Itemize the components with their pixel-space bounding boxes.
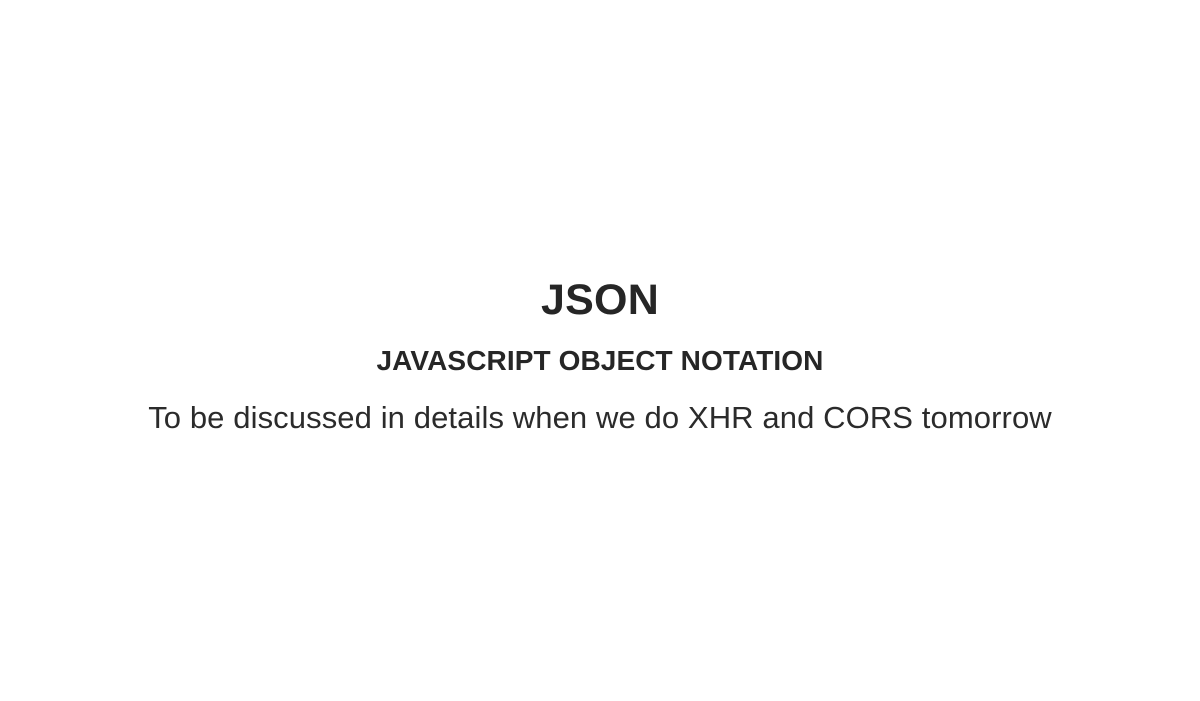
slide-title: JSON — [0, 276, 1200, 324]
slide-body-text: To be discussed in details when we do XH… — [0, 399, 1200, 437]
presentation-slide: JSON JAVASCRIPT OBJECT NOTATION To be di… — [0, 0, 1200, 701]
slide-content: JSON JAVASCRIPT OBJECT NOTATION To be di… — [0, 0, 1200, 701]
slide-subtitle: JAVASCRIPT OBJECT NOTATION — [0, 345, 1200, 377]
